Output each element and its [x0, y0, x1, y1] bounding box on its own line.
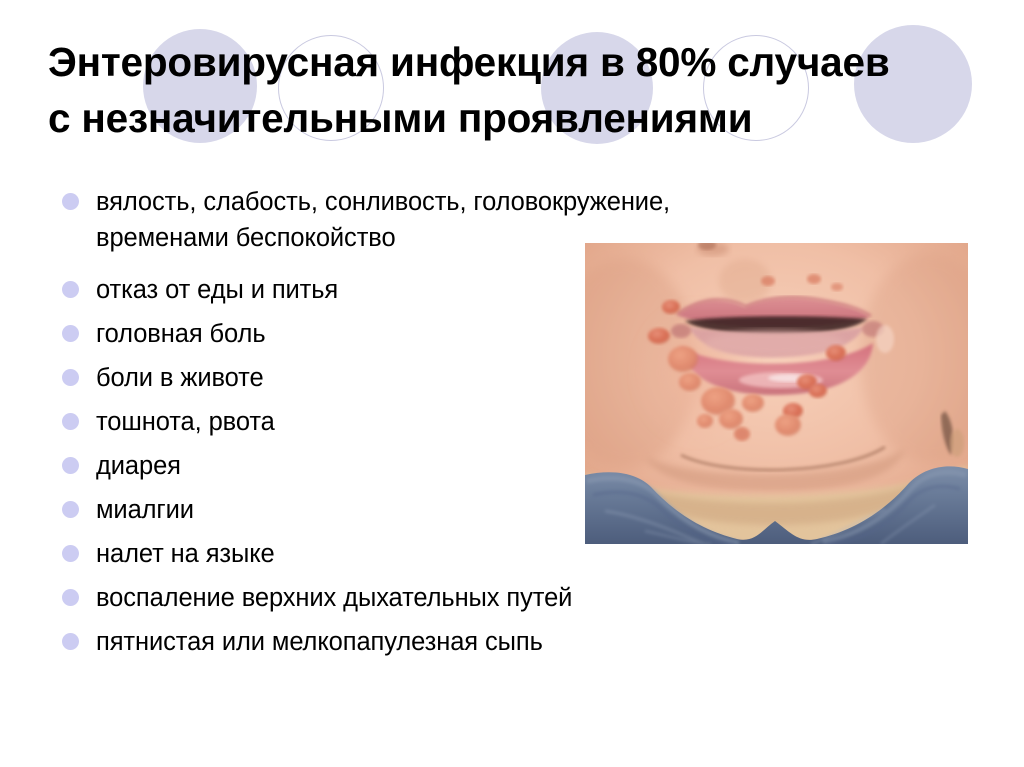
bullet-dot-icon [62, 501, 79, 518]
bullet-dot-icon [62, 545, 79, 562]
list-item-label: диарея [96, 448, 181, 484]
title-block: Энтеровирусная инфекция в 80% случаев с … [0, 0, 1024, 180]
list-item-label: головная боль [96, 316, 266, 352]
list-item: пятнистая или мелкопапулезная сыпь [60, 624, 780, 668]
list-item-label: налет на языке [96, 536, 275, 572]
bullet-dot-icon [62, 589, 79, 606]
bullet-dot-icon [62, 325, 79, 342]
list-item: головная боль [60, 316, 580, 360]
clinical-photo-image [585, 243, 968, 544]
list-item-label: отказ от еды и питья [96, 272, 338, 308]
bullet-dot-icon [62, 281, 79, 298]
list-item: тошнота, рвота [60, 404, 580, 448]
list-item-label: миалгии [96, 492, 194, 528]
list-item: миалгии [60, 492, 580, 536]
list-item: воспаление верхних дыхательных путей [60, 580, 780, 624]
list-item-label: воспаление верхних дыхательных путей [96, 580, 572, 616]
list-item: боли в животе [60, 360, 580, 404]
bullet-dot-icon [62, 193, 79, 210]
bullet-dot-icon [62, 457, 79, 474]
list-item: отказ от еды и питья [60, 272, 580, 316]
list-item-label: тошнота, рвота [96, 404, 275, 440]
page-title: Энтеровирусная инфекция в 80% случаев с … [48, 34, 988, 146]
list-item-label: пятнистая или мелкопапулезная сыпь [96, 624, 543, 660]
list-item: диарея [60, 448, 580, 492]
list-item-label: вялость, слабость, сонливость, головокру… [96, 184, 670, 256]
slide-canvas: Энтеровирусная инфекция в 80% случаев с … [0, 0, 1024, 767]
bullet-dot-icon [62, 413, 79, 430]
list-item-label: боли в животе [96, 360, 264, 396]
symptom-list: вялость, слабость, сонливость, головокру… [60, 184, 580, 668]
clinical-photo [585, 243, 968, 544]
list-item: налет на языке [60, 536, 580, 580]
bullet-dot-icon [62, 633, 79, 650]
bullet-dot-icon [62, 369, 79, 386]
